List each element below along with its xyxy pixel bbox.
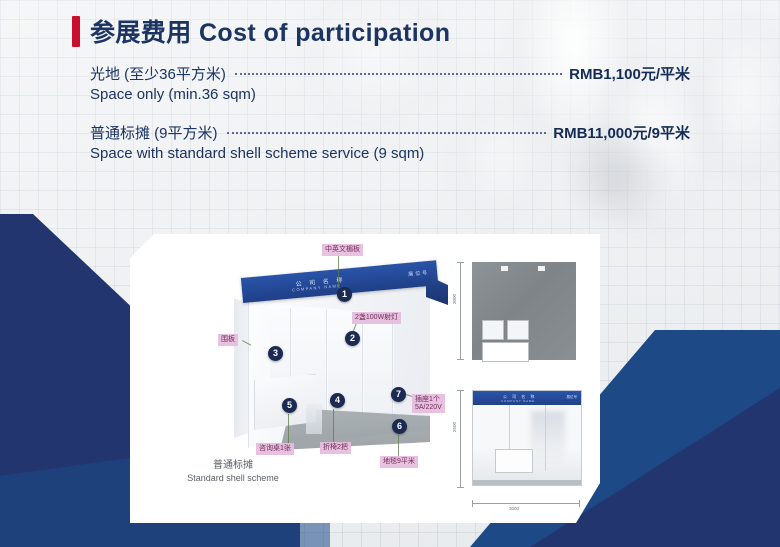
price-value: RMB11,000元/9平米 bbox=[553, 122, 690, 143]
booth-illustration: 公 司 名 称 COMPANY NAME 展位号 中英文楣板 2盏100W射灯 … bbox=[130, 234, 600, 523]
plan-view-counter bbox=[482, 342, 529, 362]
price-row: 光地 (至少36平方米) RMB1,100元/平米 Space only (mi… bbox=[90, 63, 690, 103]
callout-badge-4: 4 bbox=[330, 393, 345, 408]
elevation-fascia-board: 公 司 名 称 COMPANY NAME 展位号 bbox=[473, 391, 581, 405]
callout-badge-2: 2 bbox=[345, 331, 360, 346]
elevation-booth-number: 展位号 bbox=[567, 395, 578, 400]
price-line: 普通标摊 (9平方米) RMB11,000元/9平米 bbox=[90, 122, 690, 143]
callout-badge-5: 5 bbox=[282, 398, 297, 413]
technical-drawing-elevation-view: 2500 公 司 名 称 COMPANY NAME 展位号 3000 bbox=[452, 388, 582, 506]
price-line: 光地 (至少36平方米) RMB1,100元/平米 bbox=[90, 63, 690, 84]
plan-view-panel bbox=[482, 320, 504, 340]
dimension-label-height: 2500 bbox=[452, 422, 457, 432]
callout-label-2: 2盏100W射灯 bbox=[352, 312, 401, 324]
booth-panel-divider bbox=[392, 314, 394, 420]
price-label-zh: 普通标摊 (9平方米) bbox=[90, 122, 218, 143]
dimension-label-width: 3000 bbox=[508, 506, 520, 511]
callout-label-7: 插座1个 5A/220V bbox=[412, 394, 445, 413]
callout-label-7-line1: 插座1个 bbox=[415, 396, 442, 404]
background-photo-ghost bbox=[694, 18, 780, 186]
callout-label-7-line2: 5A/220V bbox=[415, 404, 442, 412]
price-label-en: Space with standard shell scheme service… bbox=[90, 145, 690, 162]
callout-badge-3: 3 bbox=[268, 346, 283, 361]
slide-canvas: 参展费用 Cost of participation 光地 (至少36平方米) … bbox=[0, 0, 780, 547]
callout-label-1: 中英文楣板 bbox=[322, 244, 363, 256]
dimension-line-vertical bbox=[460, 262, 461, 360]
booth-caption-zh: 普通标摊 bbox=[158, 456, 308, 471]
price-row: 普通标摊 (9平方米) RMB11,000元/9平米 Space with st… bbox=[90, 122, 690, 162]
booth-caption: 普通标摊 Standard shell scheme bbox=[158, 456, 308, 483]
price-list: 光地 (至少36平方米) RMB1,100元/平米 Space only (mi… bbox=[90, 63, 690, 181]
price-label-en: Space only (min.36 sqm) bbox=[90, 86, 690, 103]
page-title: 参展费用 Cost of participation bbox=[72, 13, 450, 49]
callout-label-5: 咨询桌1张 bbox=[256, 443, 294, 455]
callout-leader-line bbox=[398, 435, 399, 457]
booth-panel-divider bbox=[362, 312, 364, 420]
dimension-label-height: 3000 bbox=[452, 294, 457, 304]
elevation-panel-divider bbox=[545, 405, 546, 471]
callout-badge-6: 6 bbox=[392, 419, 407, 434]
price-label-zh: 光地 (至少36平方米) bbox=[90, 63, 226, 84]
elevation-view-body: 公 司 名 称 COMPANY NAME 展位号 bbox=[472, 390, 582, 486]
plan-view-body bbox=[472, 262, 576, 360]
callout-leader-line bbox=[288, 414, 289, 444]
plan-view-spotlight bbox=[501, 266, 508, 271]
booth-caption-en: Standard shell scheme bbox=[158, 473, 308, 483]
callout-leader-line bbox=[333, 409, 334, 443]
callout-label-4: 折椅2把 bbox=[320, 442, 351, 454]
page-title-text: 参展费用 Cost of participation bbox=[90, 13, 450, 49]
booth-panel-divider bbox=[326, 310, 328, 420]
callout-leader-line bbox=[338, 255, 339, 287]
callout-badge-1: 1 bbox=[337, 287, 352, 302]
elevation-shading bbox=[531, 411, 565, 467]
callout-badge-7: 7 bbox=[391, 387, 406, 402]
leader-dots bbox=[227, 132, 547, 134]
callout-label-3: 围板 bbox=[218, 334, 238, 346]
elevation-base bbox=[473, 480, 581, 485]
title-accent-bar bbox=[72, 16, 80, 47]
leader-dots bbox=[235, 73, 562, 75]
technical-drawing-plan-view: 3000 bbox=[452, 260, 576, 372]
plan-view-spotlight bbox=[538, 266, 545, 271]
booth-folding-chair bbox=[306, 404, 322, 434]
price-value: RMB1,100元/平米 bbox=[569, 63, 690, 84]
dimension-line-vertical bbox=[460, 390, 461, 488]
dimension-line-horizontal bbox=[472, 503, 580, 504]
callout-label-6: 地毯9平米 bbox=[380, 456, 418, 468]
plan-view-panel bbox=[507, 320, 529, 340]
elevation-counter bbox=[495, 449, 533, 473]
elevation-fascia-en: COMPANY NAME bbox=[501, 399, 535, 403]
